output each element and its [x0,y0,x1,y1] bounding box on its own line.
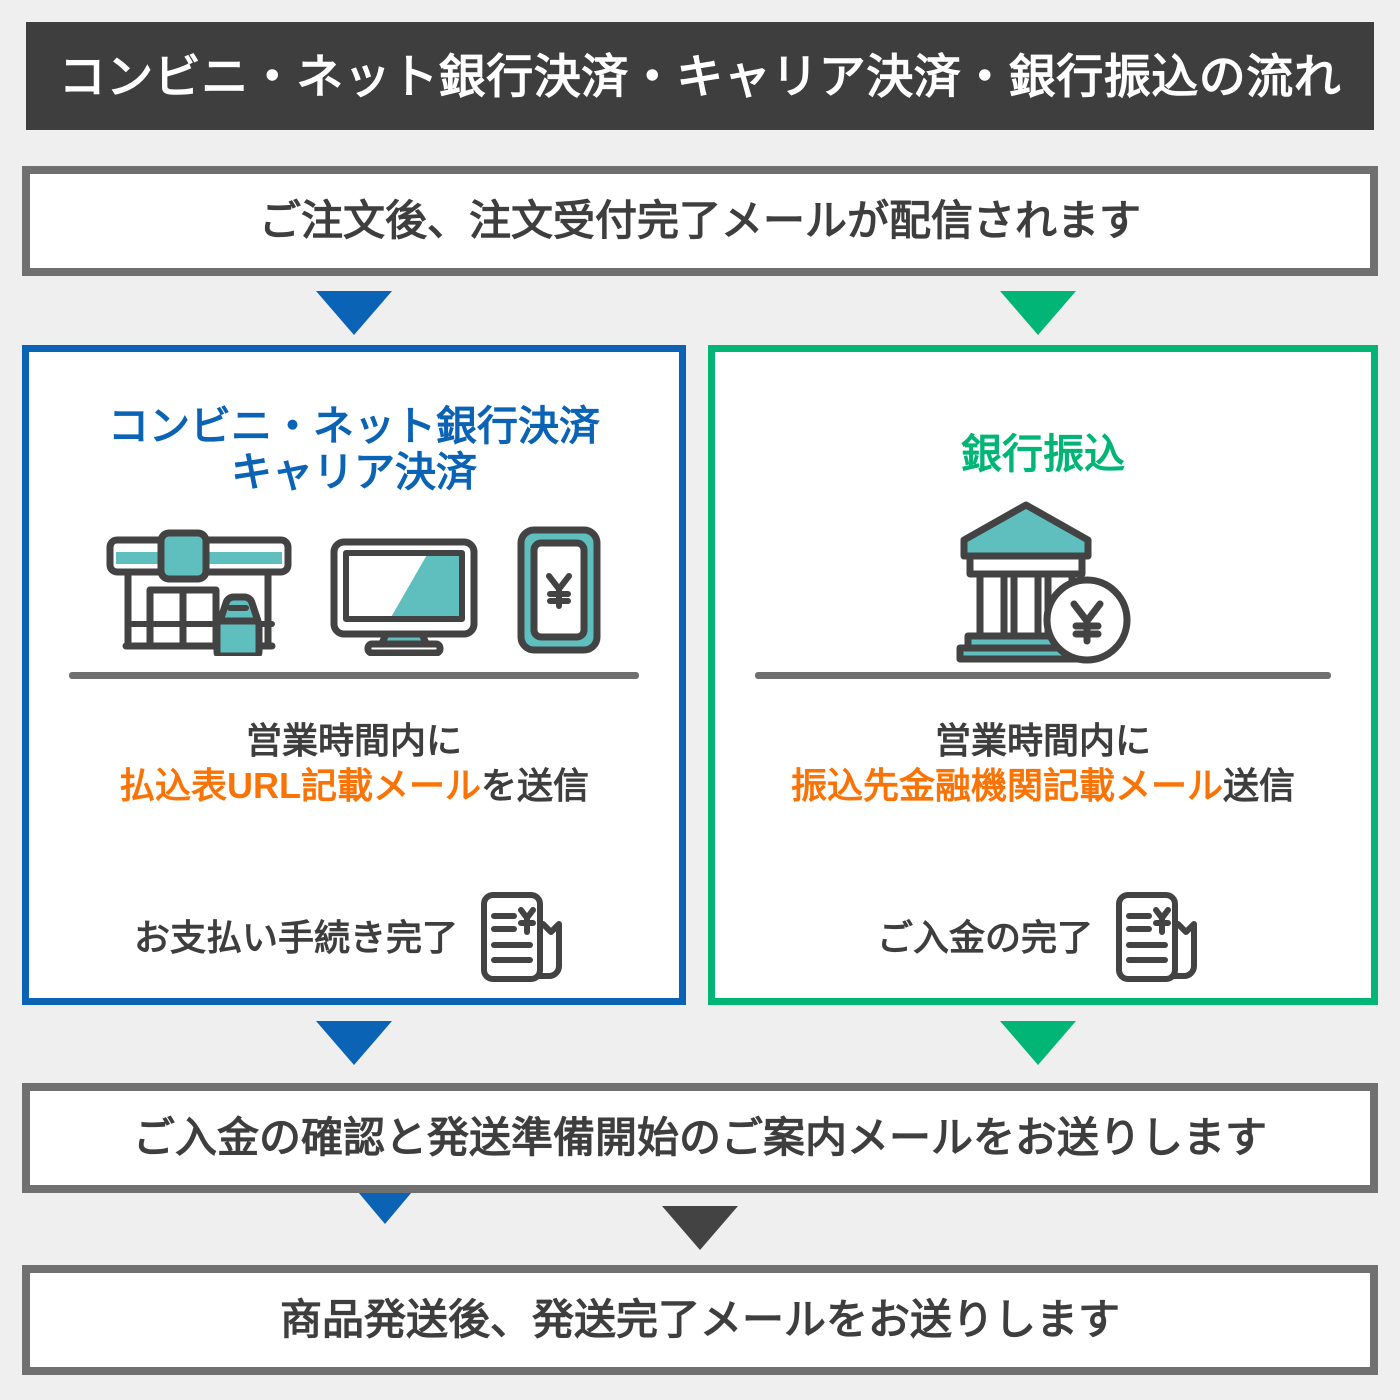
down-arrow-conveni-to-confirm-icon [316,1021,392,1065]
down-arrow-bank-to-confirm-icon [1000,1021,1076,1065]
bank-icon-row [715,500,1371,664]
method-title-bank-line1: 銀行振込 [715,432,1371,478]
method-panel-bank: 銀行振込 [708,345,1378,1005]
method-panel-conveni: コンビニ・ネット銀行決済 キャリア決済 [22,345,686,1005]
bank-send-suffix: 送信 [1223,765,1295,806]
down-arrow-to-conveni-icon [316,291,392,335]
conveni-complete-label: お支払い手続き完了 [134,920,458,956]
step-order-received-label: ご注文後、注文受付完了メールが配信されます [259,200,1141,242]
method-title-conveni-line2: キャリア決済 [29,450,679,496]
bank-complete-label: ご入金の完了 [877,920,1093,956]
desktop-monitor-icon [328,536,480,656]
conveni-send-suffix: を送信 [481,765,589,806]
step-payment-confirmed-label: ご入金の確認と発送準備開始のご案内メールをお送りします [133,1117,1267,1159]
method-title-conveni: コンビニ・ネット銀行決済 キャリア決済 [29,404,679,496]
conveni-divider [69,672,639,679]
conveni-icon-row [29,524,679,656]
down-arrow-confirm-to-shipped-icon [662,1206,738,1250]
smartphone-yen-icon [514,524,604,656]
conveni-send-highlight: 払込表URL記載メール [119,765,481,806]
conveni-complete-row: お支払い手続き完了 [29,890,679,986]
method-title-bank: 銀行振込 [715,432,1371,478]
page-title: コンビニ・ネット銀行決済・キャリア決済・銀行振込の流れ [59,53,1342,100]
bank-send-highlight: 振込先金融機関記載メール [791,765,1223,806]
bank-building-yen-icon [950,500,1136,664]
convenience-store-icon [104,528,294,656]
receipt-yen-icon [472,890,574,986]
diagram-title-banner: コンビニ・ネット銀行決済・キャリア決済・銀行振込の流れ [26,22,1374,130]
step-shipped-label: 商品発送後、発送完了メールをお送りします [280,1299,1120,1341]
conveni-send-prefix: 営業時間内に [29,718,679,763]
step-shipped: 商品発送後、発送完了メールをお送りします [22,1265,1378,1375]
conveni-send-message: 営業時間内に 払込表URL記載メールを送信 [29,718,679,808]
step-order-received: ご注文後、注文受付完了メールが配信されます [22,166,1378,276]
bank-send-message: 営業時間内に 振込先金融機関記載メール送信 [715,718,1371,808]
bank-send-prefix: 営業時間内に [715,718,1371,763]
receipt-yen-icon [1107,890,1209,986]
payment-flow-diagram: コンビニ・ネット銀行決済・キャリア決済・銀行振込の流れ ご注文後、注文受付完了メ… [0,0,1400,1400]
step-payment-confirmed: ご入金の確認と発送準備開始のご案内メールをお送りします [22,1083,1378,1193]
method-title-conveni-line1: コンビニ・ネット銀行決済 [29,404,679,450]
bank-divider [755,672,1331,679]
down-arrow-to-bank-icon [1000,291,1076,335]
bank-complete-row: ご入金の完了 [715,890,1371,986]
